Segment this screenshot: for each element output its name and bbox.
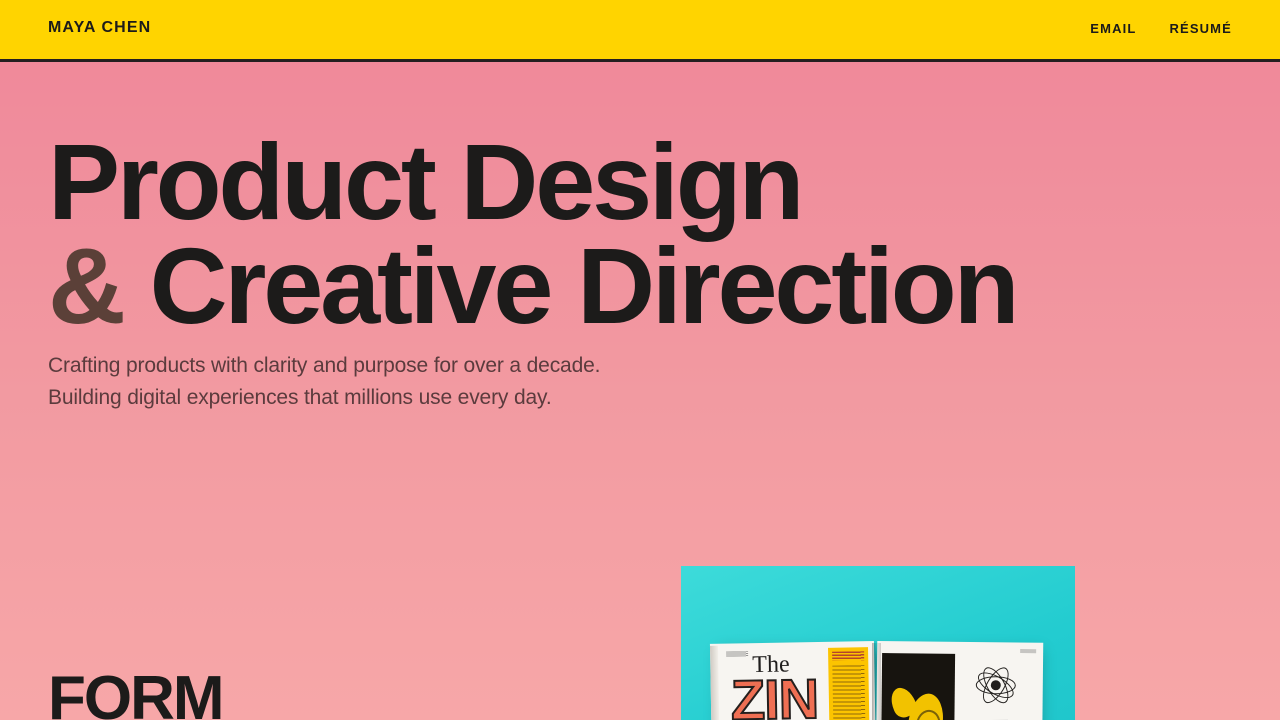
- page-corner-mark: [1020, 650, 1036, 654]
- page-edge: [710, 646, 720, 720]
- page-title: Product Design & Creative Direction: [48, 130, 1016, 337]
- magazine-right-page: [876, 641, 1043, 720]
- yellow-text-column: [828, 647, 870, 720]
- column-body-lines: [832, 665, 865, 720]
- showcase-image: The ZIN: [681, 566, 1075, 720]
- column-headline-lines: [832, 651, 864, 661]
- black-illustration-panel: [881, 653, 955, 720]
- section-title: FORM: [48, 668, 223, 720]
- headline-ampersand: &: [48, 225, 123, 346]
- brand-logo[interactable]: MAYA CHEN: [48, 19, 151, 37]
- atom-nucleus: [991, 680, 1001, 690]
- magazine-left-page: The ZIN: [710, 641, 876, 720]
- atom-diagram-icon: [973, 662, 1019, 708]
- headline-line-2: Creative Direction: [150, 225, 1017, 346]
- subtitle-line-1: Crafting products with clarity and purpo…: [48, 354, 600, 377]
- magazine-title-zin: ZIN: [730, 671, 818, 720]
- page-header-mark: [726, 651, 748, 656]
- nav-link-resume[interactable]: RÉSUMÉ: [1169, 21, 1232, 36]
- main-nav: EMAIL RÉSUMÉ: [1090, 21, 1232, 36]
- magazine-spine: [872, 643, 881, 720]
- open-magazine: The ZIN: [712, 641, 1042, 720]
- hero-subtitle: Crafting products with clarity and purpo…: [48, 350, 600, 414]
- site-header: MAYA CHEN EMAIL RÉSUMÉ: [0, 0, 1280, 62]
- subtitle-line-2: Building digital experiences that millio…: [48, 386, 552, 409]
- nav-link-email[interactable]: EMAIL: [1090, 21, 1136, 36]
